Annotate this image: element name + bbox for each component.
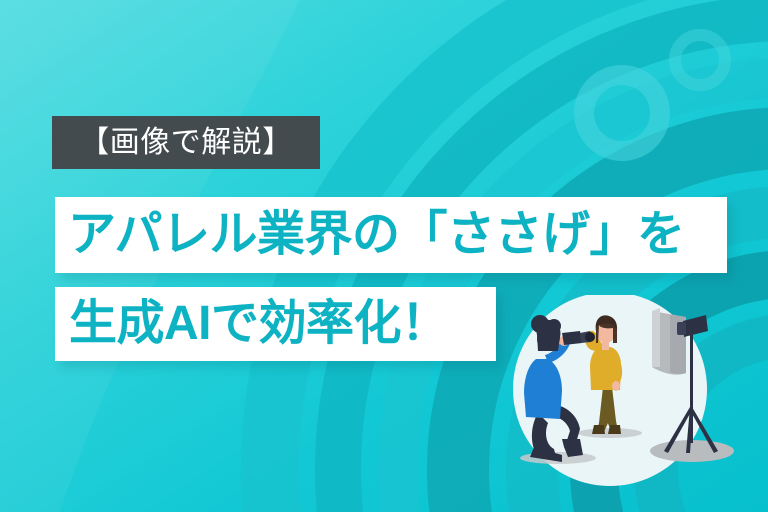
category-badge: 【画像で解説】 [52, 116, 320, 169]
light-head-mount [677, 322, 686, 335]
light-stand-ground-shadow [650, 440, 734, 462]
photographer-sweater [524, 359, 562, 419]
category-badge-label: 【画像で解説】 [79, 128, 293, 158]
headline-line-2: 生成AIで効率化！ [55, 300, 449, 348]
photo-studio-shoot-illustration [500, 295, 768, 512]
headline-box-line-2: 生成AIで効率化！ [55, 287, 496, 361]
camera-body [562, 331, 582, 345]
light-head [683, 315, 708, 337]
banner-root: 【画像で解説】 アパレル業界の「ささげ」を 生成AIで効率化！ [0, 0, 768, 512]
model-boot-front [608, 425, 621, 434]
headline-line-1: アパレル業界の「ささげ」を [55, 211, 685, 259]
decorative-rings [584, 35, 725, 151]
headline-box-line-1: アパレル業界の「ささげ」を [55, 197, 727, 273]
camera-lens-front [585, 332, 595, 342]
model-boot-back [592, 425, 605, 434]
softbox-panel-edge [652, 308, 660, 367]
model-hand [612, 381, 620, 391]
photographer-hair [537, 320, 561, 351]
